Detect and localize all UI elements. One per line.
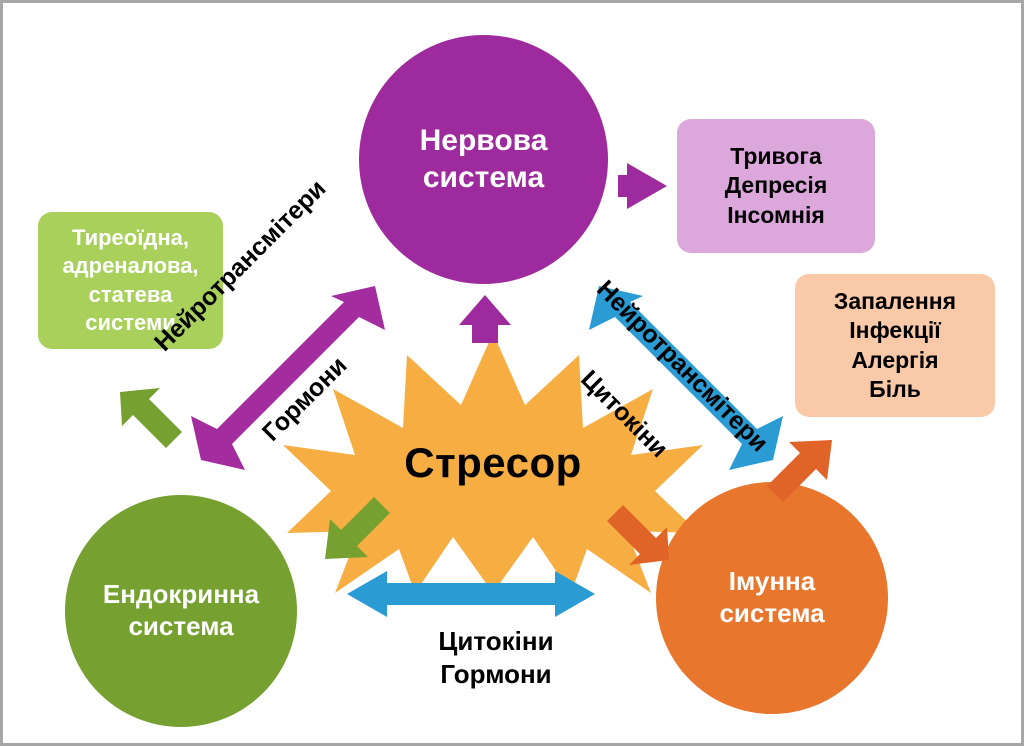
endocrine-system-label-line1: Ендокринна	[103, 579, 259, 609]
nervous-system-node[interactable]: Нервова система	[359, 35, 608, 284]
nervous-to-anxiety-arrow-icon	[618, 163, 667, 209]
inflammation-symptoms-text: Запалення Інфекції Алергія Біль	[834, 287, 956, 405]
immune-system-label: Імунна система	[719, 566, 824, 629]
anxiety-line-3: Інсомнія	[727, 202, 825, 228]
thyroid-line-3: статева	[89, 282, 173, 307]
endocrine-system-label-line2: система	[128, 611, 233, 641]
anxiety-line-1: Тривога	[730, 143, 822, 169]
inflammation-line-2: Інфекції	[849, 317, 940, 343]
endocrine-system-label: Ендокринна система	[103, 579, 259, 642]
inflammation-line-3: Алергія	[851, 347, 938, 373]
caption-bottom-line1: Цитокіни	[396, 625, 596, 658]
caption-bottom-line2: Гормони	[396, 658, 596, 691]
caption-bottom-cytokines-hormones: Цитокіни Гормони	[396, 625, 596, 690]
inflammation-symptoms-box: Запалення Інфекції Алергія Біль	[795, 274, 995, 417]
inflammation-line-1: Запалення	[834, 288, 956, 314]
immune-system-label-line1: Імунна	[729, 566, 815, 596]
endocrine-system-node[interactable]: Ендокринна система	[65, 495, 297, 727]
nervous-system-label-line1: Нервова	[420, 124, 548, 157]
anxiety-symptoms-box: Тривога Депресія Інсомнія	[677, 119, 875, 253]
nervous-system-label-line2: система	[423, 161, 544, 194]
anxiety-symptoms-text: Тривога Депресія Інсомнія	[725, 142, 828, 230]
anxiety-line-2: Депресія	[725, 172, 828, 198]
endocrine-to-thyroid-arrow-icon	[120, 388, 182, 448]
thyroid-line-2: адреналова,	[62, 253, 198, 278]
diagram-canvas: Стресор Нервова система Ендокринна систе…	[0, 0, 1024, 746]
thyroid-line-1: Тиреоїдна,	[72, 225, 189, 250]
immune-system-node[interactable]: Імунна система	[656, 482, 888, 714]
nervous-system-label: Нервова система	[420, 123, 548, 196]
inflammation-line-4: Біль	[869, 376, 921, 402]
immune-system-label-line2: система	[719, 598, 824, 628]
